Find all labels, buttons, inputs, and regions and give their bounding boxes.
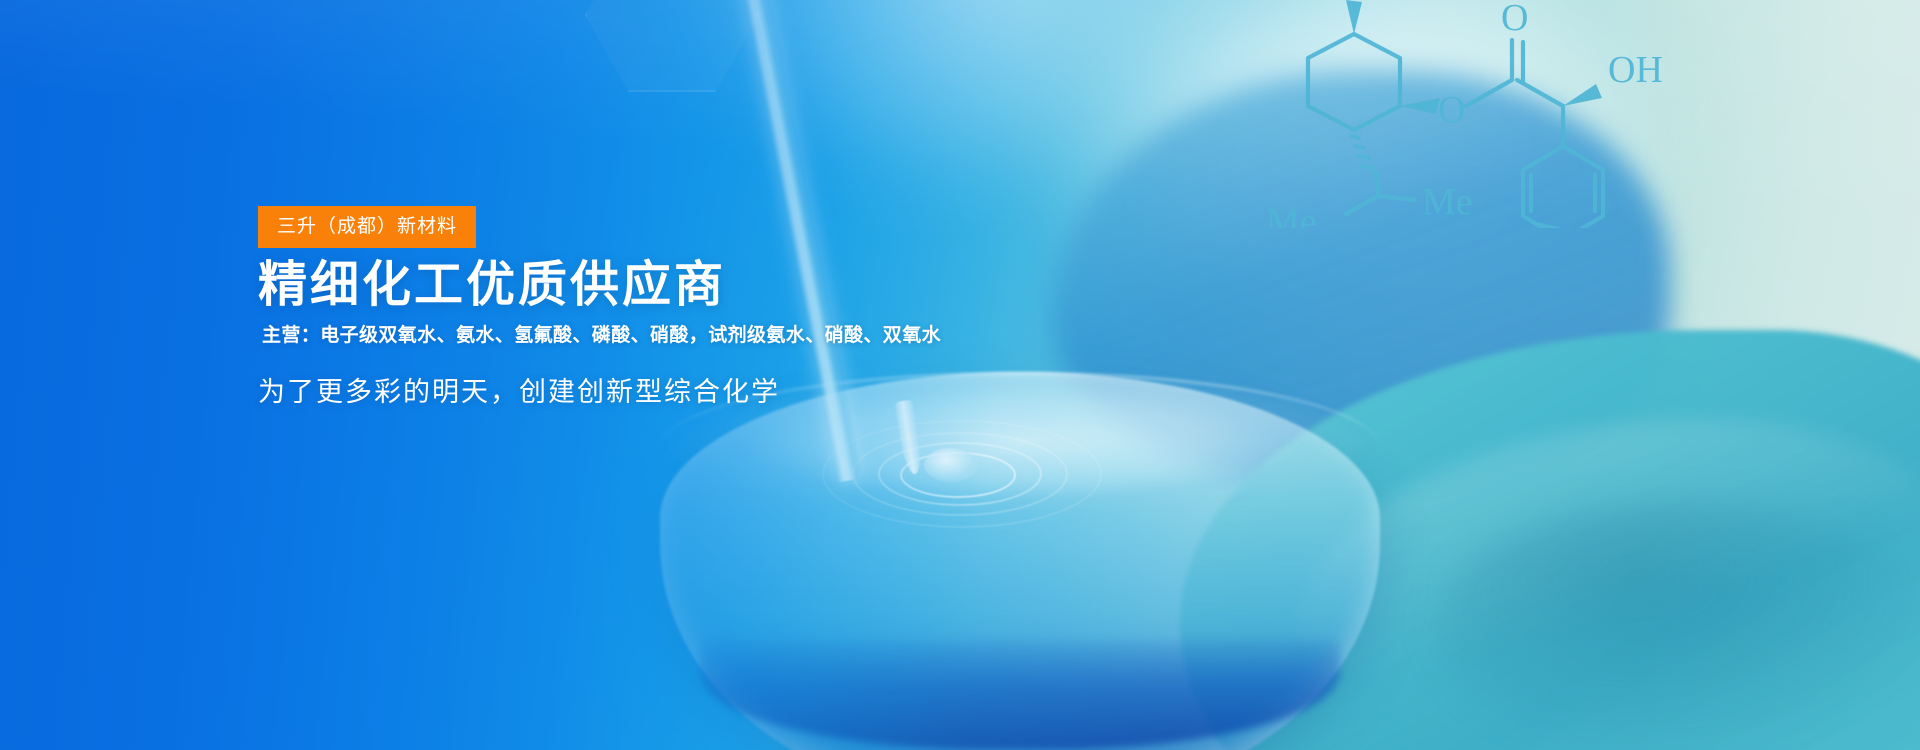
page-title: 精细化工优质供应商: [258, 258, 1258, 313]
hero-copy: 三升（成都）新材料 精细化工优质供应商 主营：电子级双氧水、氨水、氢氟酸、磷酸、…: [258, 206, 1258, 410]
chem-label-me-top: Me: [1326, 0, 1377, 3]
chem-label-ester-o: O: [1438, 89, 1465, 131]
chemical-structure-icon: Me Me Me O O OH: [1226, 0, 1920, 228]
company-badge: 三升（成都）新材料: [258, 206, 476, 248]
product-list-subtitle: 主营：电子级双氧水、氨水、氢氟酸、磷酸、硝酸，试剂级氨水、硝酸、双氧水: [262, 324, 1258, 349]
chem-label-me-left: Me: [1266, 201, 1317, 228]
hero-banner: Me Me Me O O OH 三升（成都）新材料 精细化工优质供应商 主营：电…: [0, 0, 1920, 750]
slogan-text: 为了更多彩的明天，创建创新型综合化学: [258, 375, 1258, 410]
chem-label-me-right: Me: [1422, 181, 1473, 223]
chem-label-carbonyl-o: O: [1501, 0, 1528, 39]
chem-label-oh: OH: [1608, 49, 1663, 91]
